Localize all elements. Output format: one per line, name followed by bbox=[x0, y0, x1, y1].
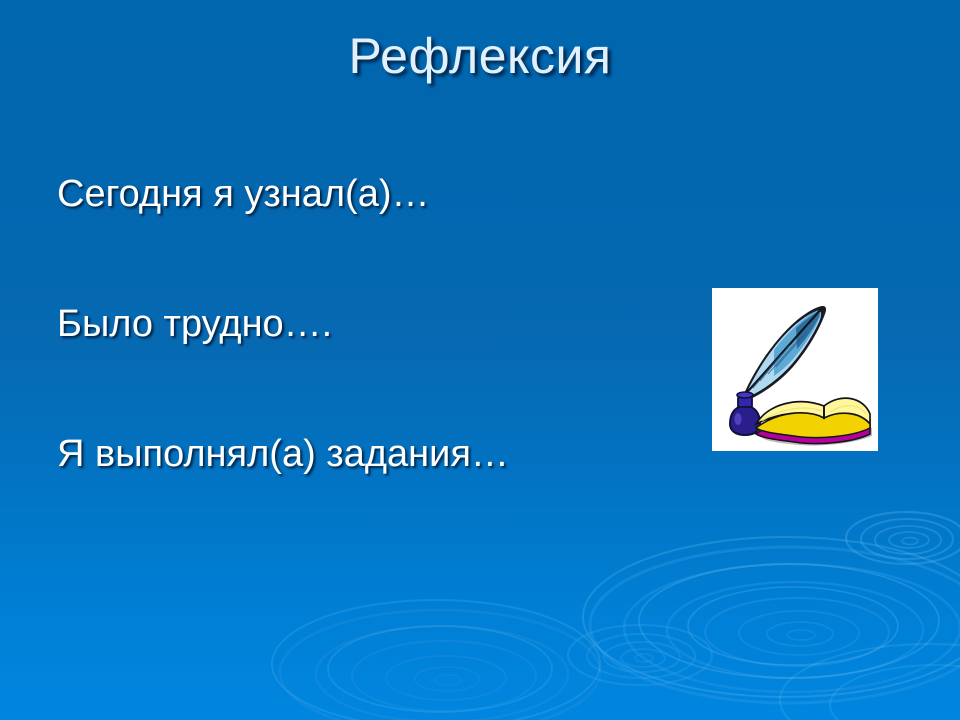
body-line-2: Было трудно…. bbox=[57, 302, 697, 346]
body-line-3: Я выполнял(а) задания… bbox=[57, 432, 697, 476]
quill-book-image bbox=[712, 288, 878, 451]
feather-quill bbox=[742, 306, 826, 400]
slide-canvas: Рефлексия Сегодня я узнал(а)… Было трудн… bbox=[0, 0, 960, 720]
slide-title: Рефлексия bbox=[0, 25, 960, 87]
slide-body: Сегодня я узнал(а)… Было трудно…. Я выпо… bbox=[57, 172, 697, 476]
open-book bbox=[756, 398, 872, 445]
quill-book-illustration bbox=[712, 288, 878, 451]
body-line-1: Сегодня я узнал(а)… bbox=[57, 172, 697, 216]
